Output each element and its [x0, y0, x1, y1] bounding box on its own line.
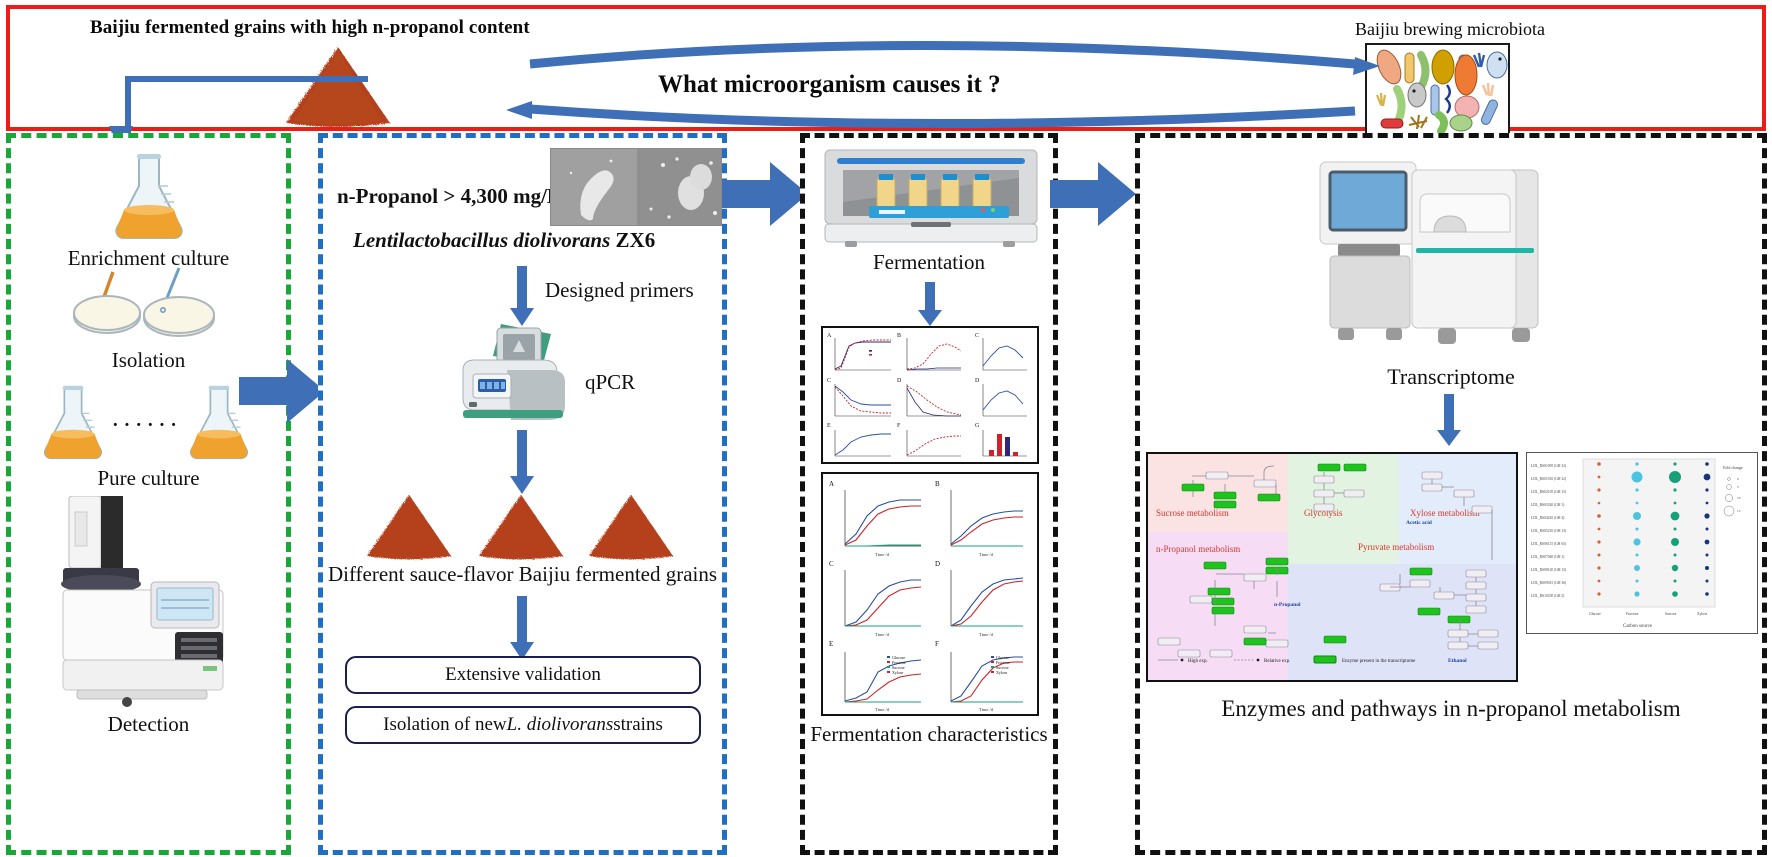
petri-dish-icon [73, 266, 225, 346]
banner-right-title: Baijiu brewing microbiota [1355, 19, 1545, 40]
step-arrow-3-icon [1050, 158, 1138, 230]
down-arrow-2-icon [509, 430, 535, 496]
svg-text:LDL_RS01010 (GH 32): LDL_RS01010 (GH 32) [1531, 477, 1567, 481]
step-label-detection: Detection [11, 712, 286, 737]
svg-text:Fructose: Fructose [1626, 612, 1639, 616]
svg-text:D: D [897, 378, 902, 384]
svg-text:Xylose metabolism: Xylose metabolism [1410, 508, 1480, 518]
dotplot-figure: LDL_RS01005 (GH 32)LDL_RS01010 (GH 32) L… [1526, 452, 1758, 634]
result-text-italic: L. diolivorans [507, 714, 614, 736]
svg-text:Time /d: Time /d [979, 552, 994, 557]
svg-text:LDL_RS06115 (GH 65): LDL_RS06115 (GH 65) [1531, 542, 1567, 546]
svg-text:5: 5 [1737, 485, 1739, 489]
ellipsis-label: ······ [111, 410, 181, 440]
svg-text:LDL_RS01005 (GH 32): LDL_RS01005 (GH 32) [1531, 464, 1567, 468]
propanol-concentration-label: n-Propanol > 4,300 mg/L [337, 184, 561, 209]
svg-text:D: D [935, 560, 940, 568]
svg-text:LDL_RS09015 (GH 36): LDL_RS09015 (GH 36) [1531, 581, 1567, 585]
svg-text:C: C [829, 560, 834, 568]
down-arrow-fermentation-icon [917, 282, 943, 328]
qpcr-machine-icon [447, 322, 573, 430]
svg-text:LDL_RS08120 (GH 13): LDL_RS08120 (GH 13) [1531, 568, 1567, 572]
svg-text:D: D [975, 378, 980, 384]
svg-text:n-Propanol metabolism: n-Propanol metabolism [1156, 544, 1240, 554]
enzymes-pathways-caption: Enzymes and pathways in n-propanol metab… [1140, 696, 1762, 722]
fermentation-label: Fermentation [805, 250, 1053, 275]
down-arrow-1-icon [509, 266, 535, 328]
panel-isolation: Enrichment culture Isolation [6, 133, 291, 855]
svg-text:10: 10 [1737, 496, 1741, 500]
svg-text:Carbon source: Carbon source [1623, 624, 1653, 629]
grain-pile-icon-1 [359, 493, 459, 561]
result-text-before: Isolation of new [383, 714, 506, 736]
species-name-label: Lentilactobacillus diolivorans ZX6 [353, 228, 655, 253]
svg-text:Enzyme present in the transcri: Enzyme present in the transcriptome [1342, 659, 1416, 664]
question-label: What microorganism causes it ? [658, 71, 1001, 99]
svg-text:n-Propanol: n-Propanol [1274, 602, 1301, 608]
transcriptome-label: Transcriptome [1140, 364, 1762, 390]
svg-text:G: G [975, 423, 980, 429]
svg-text:Glucose: Glucose [1589, 612, 1601, 616]
panel-identification: n-Propanol > 4,300 mg/L Lentilactobacill… [318, 133, 727, 855]
down-arrow-transcriptome-icon [1436, 394, 1462, 448]
panel-transcriptome: Transcriptome Sucrose metabolism n-Propa… [1135, 133, 1767, 855]
graphical-abstract: Baijiu fermented grains with high n-prop… [0, 0, 1772, 857]
svg-text:LDL_RS04410 (GH 4): LDL_RS04410 (GH 4) [1531, 516, 1565, 520]
species-strain: ZX6 [610, 228, 655, 252]
fermentation-characteristics-caption: Fermentation characteristics [805, 722, 1053, 747]
svg-text:E: E [827, 423, 831, 429]
top-banner: Baijiu fermented grains with high n-prop… [6, 5, 1766, 131]
svg-text:Time /d: Time /d [875, 632, 890, 637]
step-arrow-2-icon [722, 158, 810, 230]
qpcr-label: qPCR [585, 370, 635, 395]
svg-text:Sucrose: Sucrose [1665, 612, 1677, 616]
species-italic: Lentilactobacillus diolivorans [353, 228, 610, 252]
svg-text:C: C [975, 333, 979, 339]
sequencer-icon [1316, 152, 1560, 360]
gc-ms-instrument-icon [53, 496, 245, 711]
svg-text:High exp.: High exp. [1188, 659, 1208, 664]
svg-text:Xylose: Xylose [892, 670, 904, 675]
shaking-incubator-icon [823, 148, 1039, 248]
svg-text:LDL_RS03320 (GH 1): LDL_RS03320 (GH 1) [1531, 503, 1565, 507]
sem-micrograph-image [550, 148, 722, 226]
svg-text:Xylose: Xylose [1697, 612, 1708, 616]
fermentation-figure-upper: ABC CDD EFG [821, 326, 1039, 464]
svg-text:Fold change: Fold change [1723, 465, 1743, 470]
grain-pile-icon-2 [471, 493, 571, 561]
svg-text:A: A [827, 333, 832, 339]
designed-primers-label: Designed primers [545, 278, 694, 303]
grains-caption: Different sauce-flavor Baijiu fermented … [323, 562, 722, 587]
grain-pile-icon-3 [581, 493, 681, 561]
fermentation-figure-lower: AB CD EF Time /d Time /d [821, 472, 1039, 716]
result-text-after: strains [613, 714, 663, 736]
svg-text:A: A [829, 480, 834, 488]
result-box-text: Extensive validation [445, 664, 601, 686]
flask-icon [106, 152, 192, 240]
svg-text:F: F [935, 640, 939, 648]
svg-text:Time /d: Time /d [979, 632, 994, 637]
microbiota-image [1365, 43, 1510, 135]
svg-text:Ethanol: Ethanol [1448, 658, 1467, 664]
panel-fermentation: Fermentation ABC CDD EFG [800, 133, 1058, 855]
svg-text:Xylose: Xylose [996, 670, 1008, 675]
step-label-pure-culture: Pure culture [11, 466, 286, 491]
banner-left-title: Baijiu fermented grains with high n-prop… [90, 17, 530, 39]
down-arrow-3-icon [509, 596, 535, 662]
result-box-isolation-new-strains[interactable]: Isolation of new L. diolivorans strains [345, 706, 701, 744]
svg-text:E: E [829, 640, 833, 648]
svg-text:0: 0 [1737, 477, 1739, 481]
pathway-map-figure: Sucrose metabolism n-Propanol metabolism… [1146, 452, 1518, 682]
step-arrow-1-icon [239, 355, 327, 427]
svg-text:Time /d: Time /d [875, 552, 890, 557]
svg-text:C: C [827, 378, 831, 384]
svg-text:LDL_RS05210 (GH 13): LDL_RS05210 (GH 13) [1531, 529, 1567, 533]
svg-text:Sucrose metabolism: Sucrose metabolism [1156, 508, 1229, 518]
svg-text:B: B [935, 480, 940, 488]
flask-icon-left [35, 384, 111, 460]
svg-text:Acetic acid: Acetic acid [1406, 520, 1432, 526]
svg-text:LDL_RS07040 (GH 1): LDL_RS07040 (GH 1) [1531, 555, 1565, 559]
svg-text:Time /d: Time /d [875, 707, 890, 712]
svg-text:15: 15 [1737, 509, 1741, 513]
svg-text:LDL_RS10250 (GH 2): LDL_RS10250 (GH 2) [1531, 594, 1565, 598]
svg-text:Time /d: Time /d [979, 707, 994, 712]
result-box-extensive-validation[interactable]: Extensive validation [345, 656, 701, 694]
svg-text:B: B [897, 333, 901, 339]
svg-text:Relative exp.: Relative exp. [1264, 659, 1290, 664]
svg-text:Pyruvate metabolism: Pyruvate metabolism [1358, 542, 1434, 552]
svg-text:LDL_RS02105 (GH 13): LDL_RS02105 (GH 13) [1531, 490, 1567, 494]
